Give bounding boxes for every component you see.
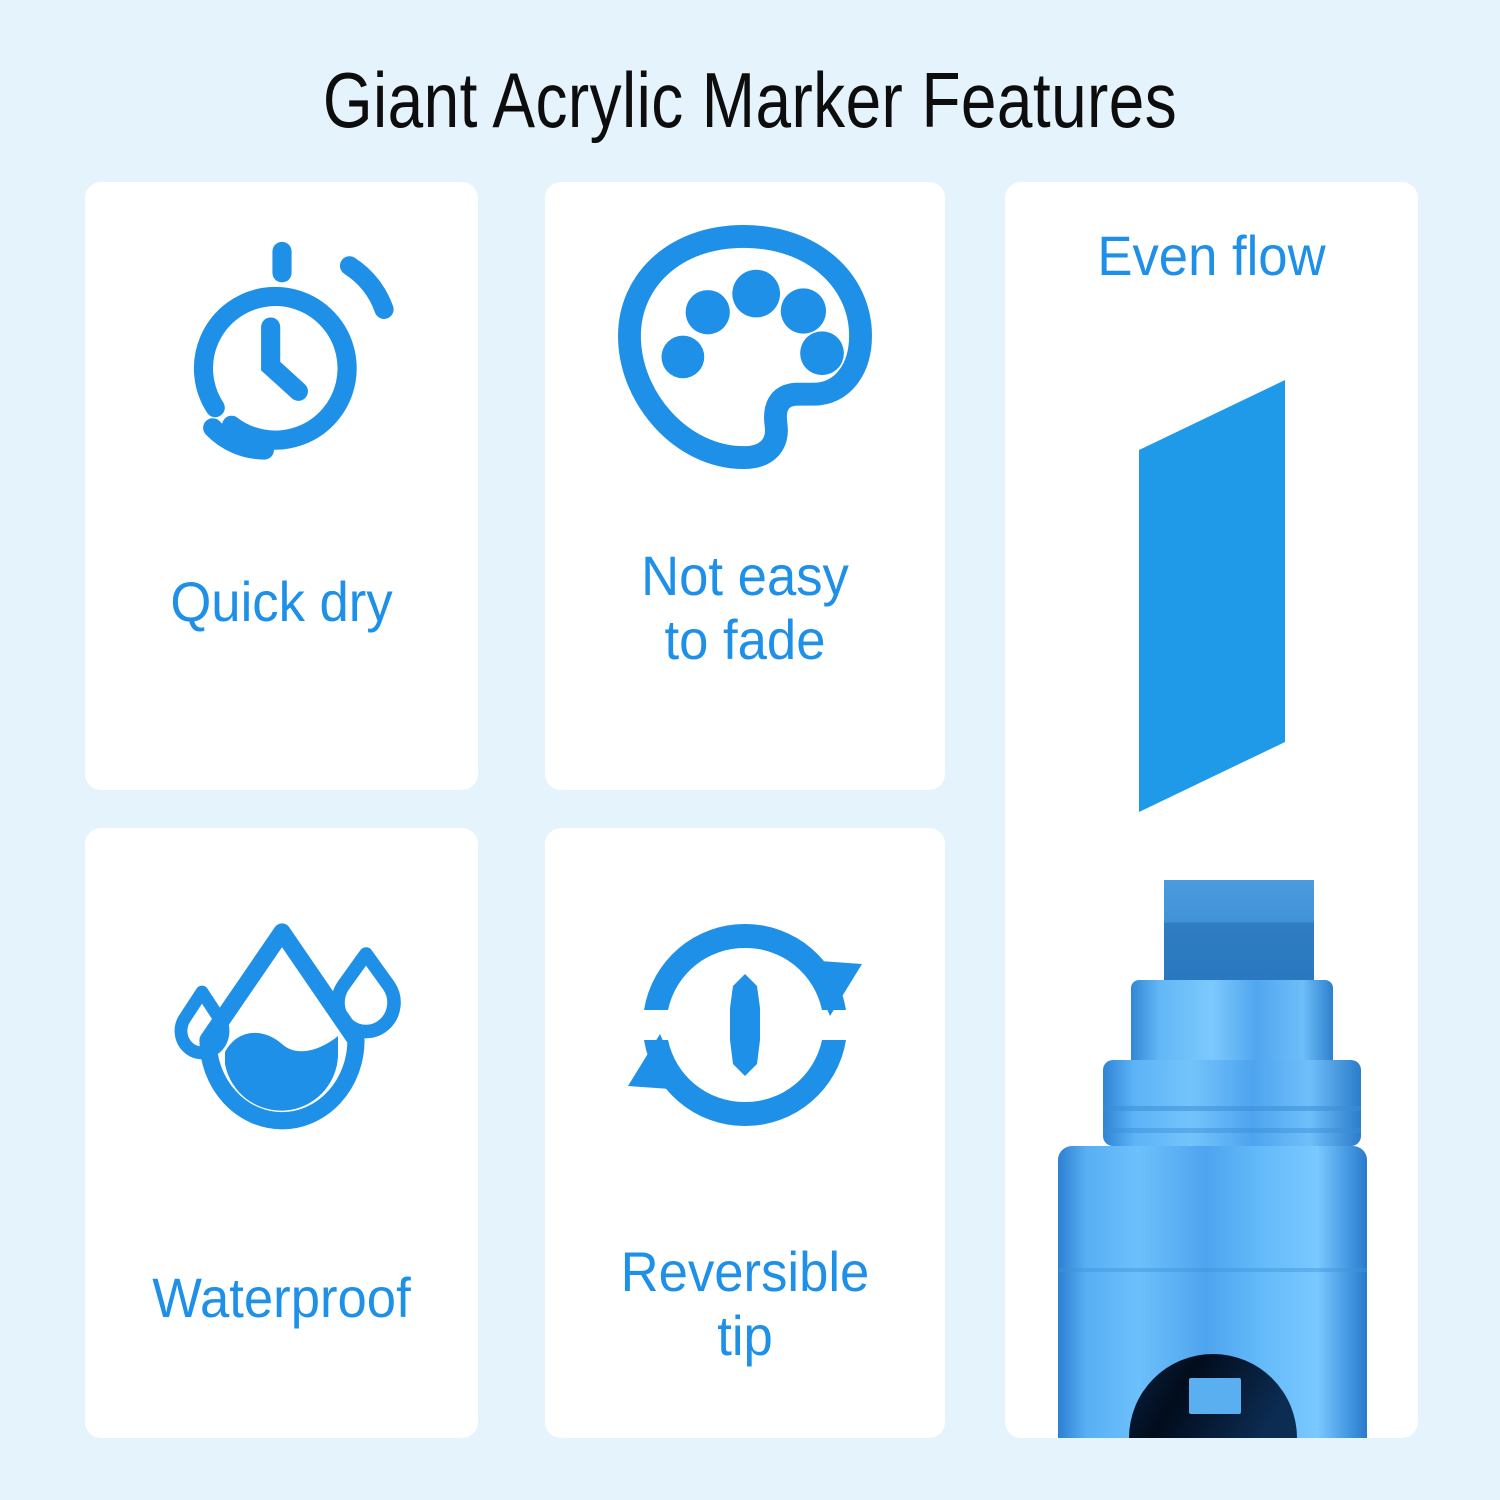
feature-label-quick-dry: Quick dry [97, 570, 466, 634]
feature-card-quick-dry: Quick dry [85, 182, 478, 790]
circular-arrows-icon [545, 916, 945, 1134]
feature-card-even-flow: Even flow [1005, 182, 1418, 1438]
paint-palette-icon [545, 224, 945, 470]
feature-infographic: Giant Acrylic Marker Features Quick d [0, 0, 1500, 1500]
feature-label-even-flow: Even flow [1017, 224, 1405, 288]
water-droplet-icon [85, 920, 478, 1136]
paint-stroke-swatch [1139, 380, 1285, 812]
feature-label-not-easy-to-fade: Not easy to fade [557, 544, 933, 672]
marker-nib [1164, 880, 1314, 980]
page-title: Giant Acrylic Marker Features [135, 52, 1365, 148]
feature-card-reversible-tip: Reversible tip [545, 828, 945, 1438]
feature-label-waterproof: Waterproof [97, 1266, 466, 1330]
stopwatch-icon [85, 230, 478, 482]
feature-card-not-easy-to-fade: Not easy to fade [545, 182, 945, 790]
feature-card-waterproof: Waterproof [85, 828, 478, 1438]
marker-pen-image [1025, 880, 1400, 1438]
marker-label-mark [1189, 1378, 1241, 1414]
feature-label-reversible-tip: Reversible tip [557, 1240, 933, 1368]
